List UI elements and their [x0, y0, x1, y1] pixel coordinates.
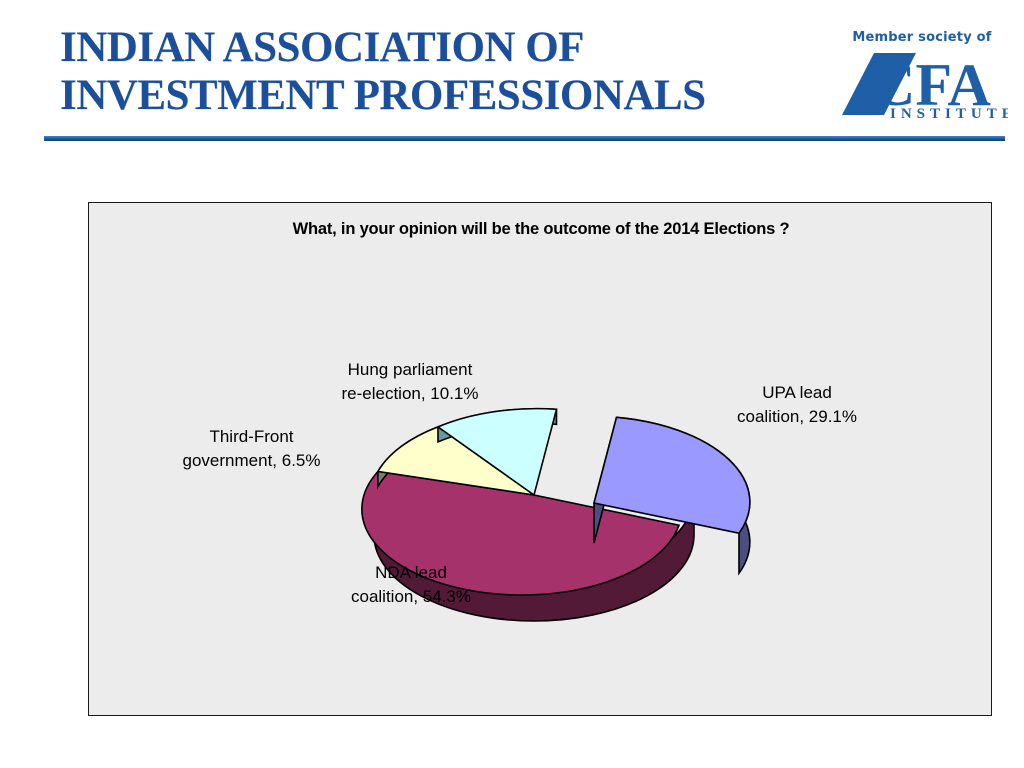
pie-label-nda-line1: NDA lead	[375, 563, 447, 582]
header-divider-rule	[44, 136, 1005, 141]
pie-label-upa: UPA lead coalition, 29.1%	[697, 381, 897, 429]
pie-label-third-front-line2: government, 6.5%	[144, 449, 359, 473]
pie-label-nda-line2: coalition, 54.3%	[311, 585, 511, 609]
cfa-logo-svg: CFA INSTITUTE	[836, 47, 1008, 121]
organization-title-line-2: INVESTMENT PROFESSIONALS	[60, 72, 850, 120]
chart-panel: What, in your opinion will be the outcom…	[88, 202, 992, 716]
pie-label-nda: NDA lead coalition, 54.3%	[311, 561, 511, 609]
pie-label-third-front-line1: Third-Front	[209, 427, 293, 446]
pie-label-hung-parliament: Hung parliament re-election, 10.1%	[305, 358, 515, 406]
cfa-institute-text: INSTITUTE	[890, 106, 1008, 121]
pie-label-hung-parliament-line1: Hung parliament	[348, 360, 473, 379]
pie-label-third-front: Third-Front government, 6.5%	[144, 425, 359, 473]
organization-title: INDIAN ASSOCIATION OF INVESTMENT PROFESS…	[60, 24, 850, 120]
member-society-of-label: Member society of	[836, 30, 1008, 45]
page-header: INDIAN ASSOCIATION OF INVESTMENT PROFESS…	[0, 0, 1024, 150]
pie-label-upa-line2: coalition, 29.1%	[697, 405, 897, 429]
cfa-institute-logo: Member society of CFA INSTITUTE	[836, 30, 1008, 130]
cfa-wordmark: CFA INSTITUTE	[836, 47, 1008, 121]
pie-label-upa-line1: UPA lead	[762, 383, 832, 402]
organization-title-line-1: INDIAN ASSOCIATION OF	[60, 24, 850, 72]
pie-label-hung-parliament-line2: re-election, 10.1%	[305, 382, 515, 406]
pie-chart-stage: Hung parliament re-election, 10.1% Third…	[89, 203, 993, 717]
